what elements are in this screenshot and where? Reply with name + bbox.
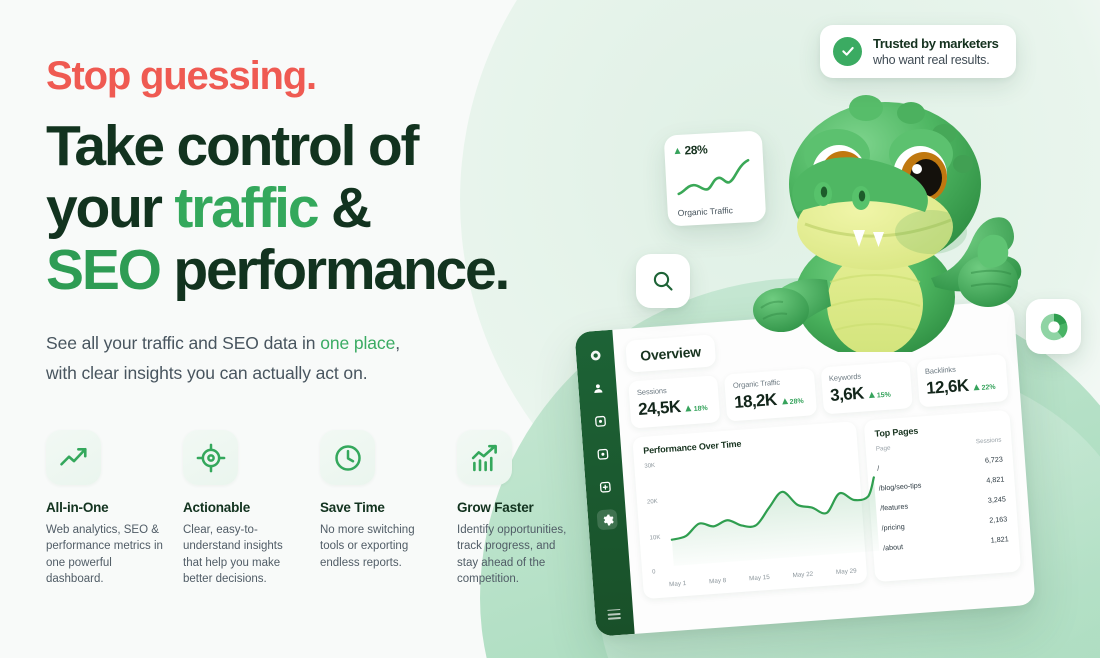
- kpi-value: 18,2K: [734, 390, 778, 413]
- feature-card-actionable: Actionable Clear, easy-to-understand ins…: [183, 430, 301, 587]
- top-pages-table: Page Sessions / 6,723 /blog/seo-tips 4,8…: [876, 437, 1010, 558]
- cell-sessions: 2,163: [989, 514, 1008, 524]
- cell-sessions: 3,245: [987, 494, 1006, 504]
- trending-up-icon: [46, 430, 101, 485]
- headline-accent-traffic: traffic: [174, 176, 317, 240]
- top-pages-panel: Top Pages Page Sessions / 6,723 /blog/se…: [864, 410, 1021, 582]
- dashboard-icon[interactable]: [584, 344, 605, 365]
- cell-sessions: 1,821: [990, 534, 1009, 544]
- triangle-up-icon: [869, 392, 875, 398]
- y-tick-label: 30K: [644, 463, 655, 470]
- triangle-up-icon: [685, 405, 691, 411]
- headline-line-1: Take control of: [46, 114, 417, 178]
- feature-title: Grow Faster: [457, 500, 575, 515]
- chart-svg: [662, 445, 884, 578]
- hero-subtitle: See all your traffic and SEO data in one…: [46, 328, 586, 389]
- feature-title: Actionable: [183, 500, 301, 515]
- kpi-card-backlinks: Backlinks 12,6K 22%: [916, 354, 1008, 407]
- kpi-delta: 28%: [781, 397, 803, 407]
- donut-chip[interactable]: [1026, 299, 1081, 354]
- crocodile-mascot-thumbs-up: [735, 82, 1045, 352]
- x-tick-label: May 29: [836, 567, 857, 575]
- dashboard-title: Overview: [625, 334, 716, 372]
- organic-traffic-label: Organic Traffic: [677, 204, 755, 218]
- bar-chart-growth-icon: [457, 430, 512, 485]
- sparkline-chart: [675, 157, 753, 199]
- donut-chart-icon: [1037, 310, 1071, 344]
- settings-icon[interactable]: [597, 509, 618, 530]
- x-tick-label: May 15: [749, 574, 770, 582]
- feature-description: Identify opportunities, track progress, …: [457, 522, 575, 587]
- feature-card-all-in-one: All-in-One Web analytics, SEO & performa…: [46, 430, 164, 587]
- cell-page: /pricing: [881, 521, 905, 532]
- triangle-up-icon: [674, 148, 680, 154]
- trusted-badge-title: Trusted by marketers: [873, 36, 999, 51]
- column-header-sessions: Sessions: [976, 437, 1002, 446]
- subtitle-part-2: with clear insights you can actually act…: [46, 363, 367, 383]
- y-tick-label: 20K: [647, 499, 658, 506]
- kpi-value: 3,6K: [830, 384, 865, 406]
- feature-description: No more switching tools or exporting end…: [320, 522, 438, 571]
- trusted-badge-subtitle: who want real results.: [873, 53, 999, 67]
- kpi-delta: 18%: [685, 404, 707, 414]
- feature-description: Web analytics, SEO & performance metrics…: [46, 522, 164, 587]
- y-tick-label: 10K: [649, 535, 660, 542]
- cell-sessions: 6,723: [985, 454, 1004, 464]
- search-icon: [651, 269, 675, 293]
- subtitle-comma: ,: [395, 333, 400, 353]
- page-title: Take control of your traffic & SEO perfo…: [46, 116, 586, 302]
- headline-line-3-plain: performance.: [160, 238, 508, 302]
- search-chip[interactable]: [636, 254, 690, 308]
- hero-eyebrow: Stop guessing.: [46, 56, 586, 96]
- subtitle-accent: one place: [320, 333, 395, 353]
- x-tick-label: May 1: [669, 580, 687, 588]
- organic-traffic-chip: 28% Organic Traffic: [664, 130, 767, 226]
- reports-icon[interactable]: [594, 476, 615, 497]
- top-pages-title: Top Pages: [874, 420, 1000, 439]
- hamburger-icon[interactable]: [607, 609, 621, 620]
- feature-title: Save Time: [320, 500, 438, 515]
- hero-copy: Stop guessing. Take control of your traf…: [46, 56, 586, 389]
- cell-page: /blog/seo-tips: [878, 480, 921, 492]
- organic-traffic-delta: 28%: [684, 142, 708, 157]
- feature-description: Clear, easy-to-understand insights that …: [183, 522, 301, 587]
- target-icon: [183, 430, 238, 485]
- check-circle-icon: [833, 37, 862, 66]
- kpi-card-sessions: Sessions 24,5K 18%: [628, 375, 720, 428]
- performance-chart: 30K 20K 10K 0: [644, 447, 856, 580]
- headline-line-2-tail: &: [317, 176, 370, 240]
- headline-line-2-plain: your: [46, 176, 174, 240]
- kpi-delta: 22%: [973, 383, 995, 393]
- triangle-up-icon: [781, 398, 787, 404]
- analytics-icon[interactable]: [589, 410, 610, 431]
- feature-title: All-in-One: [46, 500, 164, 515]
- trusted-badge: Trusted by marketers who want real resul…: [820, 25, 1016, 78]
- headline-accent-seo: SEO: [46, 238, 160, 302]
- kpi-value: 12,6K: [926, 376, 970, 399]
- cell-sessions: 4,821: [986, 474, 1005, 484]
- column-header-page: Page: [876, 445, 891, 453]
- dashboard-panels: Performance Over Time 30K 20K 10K 0: [632, 410, 1021, 599]
- feature-card-grow-faster: Grow Faster Identify opportunities, trac…: [457, 430, 575, 587]
- users-icon[interactable]: [587, 377, 608, 398]
- cell-page: /about: [883, 542, 904, 552]
- feature-list: All-in-One Web analytics, SEO & performa…: [46, 430, 586, 587]
- performance-chart-panel: Performance Over Time 30K 20K 10K 0: [632, 421, 867, 599]
- search-console-icon[interactable]: [592, 443, 613, 464]
- x-tick-label: May 22: [792, 571, 813, 579]
- clock-icon: [320, 430, 375, 485]
- kpi-delta: 15%: [869, 391, 891, 401]
- feature-card-save-time: Save Time No more switching tools or exp…: [320, 430, 438, 587]
- kpi-card-organic-traffic: Organic Traffic 18,2K 28%: [724, 368, 816, 421]
- y-tick-label: 0: [652, 569, 656, 575]
- triangle-up-icon: [973, 384, 979, 390]
- x-tick-label: May 8: [709, 577, 727, 585]
- kpi-card-keywords: Keywords 3,6K 15%: [820, 361, 912, 414]
- cell-page: /features: [880, 501, 909, 512]
- kpi-value: 24,5K: [638, 397, 682, 420]
- subtitle-part-1: See all your traffic and SEO data in: [46, 333, 320, 353]
